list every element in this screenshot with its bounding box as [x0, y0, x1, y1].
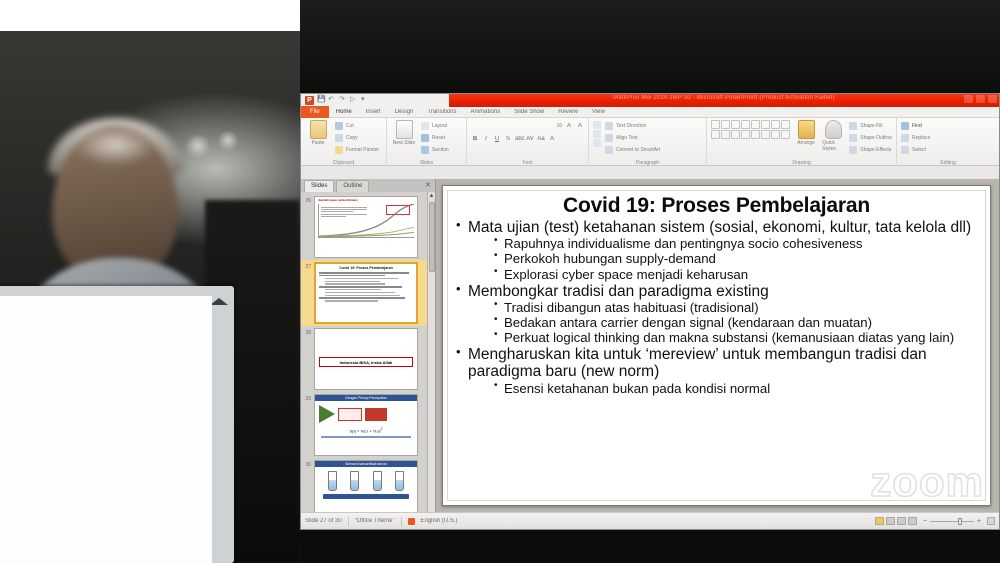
slide-thumbnail-30[interactable]: 30 Skenario lancar/tidak lancar: [301, 458, 435, 512]
slide-thumbnail-list[interactable]: 26 Jumlah kasus terkonfirmasi: [301, 192, 435, 512]
scrollbar-thumb[interactable]: [429, 202, 435, 272]
thumb-27-caption: Covid 19: Proses Pembelajaran: [316, 264, 416, 270]
slide-thumbnail-26[interactable]: 26 Jumlah kasus terkonfirmasi: [301, 194, 435, 260]
paste-button[interactable]: Paste: [305, 120, 331, 156]
fit-slide-to-window-icon[interactable]: [987, 517, 995, 525]
customize-qat-icon[interactable]: ▾: [361, 96, 369, 104]
slide-number-30: 30: [304, 460, 311, 468]
zoom-slider[interactable]: − +: [923, 518, 981, 525]
tab-design[interactable]: Design: [388, 106, 421, 118]
shape-hex-icon[interactable]: [741, 130, 750, 139]
thumb-canvas-26: Jumlah kasus terkonfirmasi: [314, 196, 418, 258]
shape-banner-icon[interactable]: [781, 130, 790, 139]
shared-screen-letterbox-bottom: [300, 530, 1000, 563]
bullet-level2-2-2[interactable]: Bedakan antara carrier dengan signal (ke…: [494, 315, 979, 330]
restore-button[interactable]: [976, 95, 985, 103]
find-label: Find: [912, 123, 922, 129]
layout-button[interactable]: Layout: [421, 120, 449, 132]
slide-content-placeholder[interactable]: Covid 19: Proses Pembelajaran Mata ujian…: [447, 190, 986, 501]
bullet-sublist-1: Rapuhnya individualisme dan pentingnya s…: [494, 236, 979, 281]
bullet-level2-3-1[interactable]: Esensi ketahanan bukan pada kondisi norm…: [494, 381, 979, 396]
theme-name[interactable]: “Office Theme”: [355, 518, 395, 524]
find-icon: [901, 122, 909, 130]
current-slide[interactable]: Covid 19: Proses Pembelajaran Mata ujian…: [442, 185, 991, 506]
character-spacing-button[interactable]: AV: [526, 136, 534, 142]
paste-label: Paste: [312, 140, 325, 146]
ribbon-group-editing: Find Replace Select Editing: [897, 118, 999, 166]
laptop-hinge-icon: [210, 298, 228, 305]
shape-effects-icon: [849, 146, 857, 154]
thumb-27-body: [316, 270, 416, 304]
ribbon-tab-strip[interactable]: File Home Insert Design Transitions Anim…: [301, 106, 999, 118]
shape-effects-label: Shape Effects: [860, 147, 891, 153]
thumb-30-footer-bar: [323, 494, 409, 499]
thumb-30-flask-1: [328, 471, 337, 491]
shape-outline-label: Shape Outline: [860, 135, 892, 141]
shape-fill-button[interactable]: Shape Fill: [849, 120, 892, 132]
thumb-29-arrow-icon: [319, 405, 335, 423]
quick-access-toolbar[interactable]: P 💾 ↶ ↷ ▷ ▾ MatkPlus Mei 2020 JMP 30 - M…: [301, 94, 999, 106]
pane-tab-slides[interactable]: Slides: [304, 180, 334, 192]
tab-animations[interactable]: Animations: [464, 106, 508, 118]
copy-icon: [335, 134, 343, 142]
shape-bracket-icon[interactable]: [771, 130, 780, 139]
ribbon-home[interactable]: Paste Cut Copy: [301, 118, 999, 166]
paste-icon: [310, 120, 327, 139]
shape-arc-icon[interactable]: [711, 130, 720, 139]
convert-smartart-button[interactable]: Convert to SmartArt: [605, 144, 660, 156]
group-label-editing: Editing: [897, 160, 999, 166]
laptop-screen: [0, 296, 212, 563]
layout-label: Layout: [432, 123, 447, 129]
normal-view-icon[interactable]: [875, 517, 884, 525]
shape-rounded-icon[interactable]: [741, 120, 750, 129]
tab-view[interactable]: View: [585, 106, 612, 118]
redo-icon[interactable]: ↷: [339, 96, 347, 104]
thumb-29-box-a: [338, 408, 362, 421]
thumb-canvas-27: Covid 19: Proses Pembelajaran: [314, 262, 418, 324]
shape-brace-icon[interactable]: [761, 130, 770, 139]
bullet-level2-1-2[interactable]: Perkokoh hubungan supply-demand: [494, 251, 979, 266]
ribbon-group-slides: New Slide Layout Reset: [387, 118, 467, 166]
slide-thumbnail-29[interactable]: 29 Dengan Prinsip Percepatan S(t) = %s.t…: [301, 392, 435, 458]
slides-pane-scrollbar[interactable]: ▲: [427, 192, 435, 512]
shape-effects-button[interactable]: Shape Effects: [849, 144, 892, 156]
pane-tab-outline[interactable]: Outline: [336, 180, 369, 192]
replace-label: Replace: [912, 135, 930, 141]
strikethrough-button[interactable]: abc: [515, 136, 523, 142]
zoom-meeting-screen: M Nuh P 💾 ↶ ↷ ▷ ▾ MatkPlus Mei 2020 JMP …: [0, 0, 1000, 563]
shape-star-icon[interactable]: [751, 130, 760, 139]
new-slide-icon: [396, 120, 413, 139]
shape-oval-icon[interactable]: [751, 120, 760, 129]
shape-arrow-icon[interactable]: [731, 120, 740, 129]
text-direction-button[interactable]: Text Direction: [605, 120, 660, 132]
shape-diamond-icon[interactable]: [731, 130, 740, 139]
decrease-font-icon[interactable]: A: [576, 123, 584, 129]
select-icon: [901, 146, 909, 154]
thumb-29-caption: Dengan Prinsip Percepatan: [315, 395, 417, 401]
text-direction-label: Text Direction: [616, 123, 646, 129]
tab-slide-show[interactable]: Slide Show: [507, 106, 551, 118]
tab-home[interactable]: Home: [329, 106, 359, 118]
thumb-26-caption: Jumlah kasus terkonfirmasi: [315, 197, 417, 203]
view-buttons[interactable]: [875, 517, 917, 525]
arrange-label: Arrange: [797, 140, 815, 146]
replace-icon: [901, 134, 909, 142]
bullet-level2-1-1[interactable]: Rapuhnya individualisme dan pentingnya s…: [494, 236, 979, 251]
slide-canvas-area[interactable]: Covid 19: Proses Pembelajaran Mata ujian…: [436, 179, 999, 512]
slide-number-27: 27: [304, 262, 311, 270]
cut-icon: [335, 122, 343, 130]
foreground-laptop: [0, 286, 234, 563]
group-label-paragraph: Paragraph: [589, 160, 706, 166]
smartart-icon: [605, 146, 613, 154]
thumb-30-flask-3: [373, 471, 382, 491]
bullet-level2-1-3[interactable]: Explorasi cyber space menjadi keharusan: [494, 267, 979, 282]
slide-thumbnail-27[interactable]: 27 Covid 19: Proses Pembelajaran: [301, 260, 435, 326]
pane-tab-strip[interactable]: Slides Outline ✕: [301, 179, 435, 192]
close-pane-icon[interactable]: ✕: [425, 182, 431, 190]
reset-label: Reset: [432, 135, 445, 141]
reading-view-icon[interactable]: [897, 517, 906, 525]
new-slide-button[interactable]: New Slide: [391, 120, 417, 156]
increase-font-icon[interactable]: A: [565, 123, 573, 129]
shape-pentagon-icon[interactable]: [721, 130, 730, 139]
section-icon: [421, 146, 429, 154]
close-button[interactable]: [988, 95, 997, 103]
ribbon-group-paragraph: Text Direction Align Text Convert to Sma…: [589, 118, 707, 166]
arrange-icon: [798, 120, 815, 139]
scroll-up-icon[interactable]: ▲: [428, 192, 435, 201]
group-label-slides: Slides: [387, 160, 466, 166]
section-button[interactable]: Section: [421, 144, 449, 156]
language-indicator[interactable]: English (U.S.): [421, 518, 458, 524]
spellcheck-icon[interactable]: [408, 518, 415, 525]
ribbon-group-clipboard: Paste Cut Copy: [301, 118, 387, 166]
format-painter-button[interactable]: Format Painter: [335, 144, 379, 156]
window-title: MatkPlus Mei 2020 JMP 30 - Microsoft Pow…: [613, 95, 835, 101]
status-divider-1: [348, 517, 349, 526]
shape-gallery[interactable]: [711, 120, 790, 139]
quick-styles-button[interactable]: Quick Styles: [822, 120, 844, 152]
arrange-button[interactable]: Arrange: [795, 120, 817, 146]
editor-work-area: Slides Outline ✕ 26 Jumlah kasus terkonf…: [301, 179, 999, 512]
video-top-whitespace: [0, 0, 300, 31]
tab-insert[interactable]: Insert: [359, 106, 388, 118]
slide-number-29: 29: [304, 394, 311, 402]
shape-triangle-icon[interactable]: [771, 120, 780, 129]
cut-button[interactable]: Cut: [335, 120, 379, 132]
copy-label: Copy: [346, 135, 358, 141]
bullet-level1-3-text: Mengharuskan kita untuk ‘mereview’ untuk…: [468, 346, 927, 380]
bullet-level1-1[interactable]: Mata ujian (test) ketahanan sistem (sosi…: [454, 219, 979, 282]
tab-transitions[interactable]: Transitions: [420, 106, 463, 118]
bullet-level1-2[interactable]: Membongkar tradisi dan paradigma existin…: [454, 283, 979, 346]
new-slide-label: New Slide: [393, 140, 416, 146]
slide-number-26: 26: [304, 196, 311, 204]
reset-icon: [421, 134, 429, 142]
window-controls[interactable]: [964, 95, 997, 103]
present-icon[interactable]: ▷: [350, 96, 358, 104]
shape-curve-icon[interactable]: [781, 120, 790, 129]
minimize-button[interactable]: [964, 95, 973, 103]
bullet-sublist-2: Tradisi dibangun atas habituasi (tradisi…: [494, 300, 979, 345]
bold-button[interactable]: B: [471, 136, 479, 142]
layout-icon: [421, 122, 429, 130]
thumb-30-flask-4: [395, 471, 404, 491]
font-color-button[interactable]: A: [548, 136, 556, 142]
shape-outline-button[interactable]: Shape Outline: [849, 132, 892, 144]
align-text-label: Align Text: [616, 135, 638, 141]
shape-fill-icon: [849, 122, 857, 130]
replace-button[interactable]: Replace: [901, 132, 995, 144]
group-label-drawing: Drawing: [707, 160, 896, 166]
bullet-level1-3[interactable]: Mengharuskan kita untuk ‘mereview’ untuk…: [454, 346, 979, 396]
slide-sorter-view-icon[interactable]: [886, 517, 895, 525]
format-painter-label: Format Painter: [346, 147, 379, 153]
slide-bullet-list: Mata ujian (test) ketahanan sistem (sosi…: [454, 219, 979, 396]
line-spacing-icon[interactable]: [593, 139, 601, 147]
format-painter-icon: [335, 146, 343, 154]
shape-box-icon[interactable]: [761, 120, 770, 129]
slide-title[interactable]: Covid 19: Proses Pembelajaran: [454, 195, 979, 217]
slide-counter: Slide 27 of 30: [305, 518, 342, 524]
cut-label: Cut: [346, 123, 354, 129]
shape-line-icon[interactable]: [721, 120, 730, 129]
shape-fill-label: Shape Fill: [860, 123, 882, 129]
undo-icon[interactable]: ↶: [328, 96, 336, 104]
slide-thumbnail-28[interactable]: 28 Indonesia BISA, Insha Allah: [301, 326, 435, 392]
thumb-28-caption: Indonesia BISA, Insha Allah: [319, 357, 413, 367]
status-bar[interactable]: Slide 27 of 30 “Office Theme” English (U…: [301, 512, 999, 529]
copy-button[interactable]: Copy: [335, 132, 379, 144]
align-text-button[interactable]: Align Text: [605, 132, 660, 144]
thumb-canvas-28: Indonesia BISA, Insha Allah: [314, 328, 418, 390]
select-button[interactable]: Select: [901, 144, 995, 156]
zoom-knob[interactable]: [958, 518, 962, 525]
tab-review[interactable]: Review: [551, 106, 585, 118]
find-button[interactable]: Find: [901, 120, 995, 132]
bullet-level1-2-text: Membongkar tradisi dan paradigma existin…: [468, 283, 769, 300]
group-label-clipboard: Clipboard: [301, 160, 386, 166]
shared-screen-letterbox-top: [300, 0, 1000, 93]
font-size-value[interactable]: 16: [556, 123, 562, 129]
thumb-30-caption: Skenario lancar/tidak lancar: [315, 461, 417, 467]
speaker-video-tile[interactable]: [0, 0, 300, 563]
bullets-icon[interactable]: [593, 121, 601, 129]
save-icon[interactable]: 💾: [317, 96, 325, 104]
zoom-track[interactable]: [930, 521, 974, 522]
underline-button[interactable]: U: [493, 136, 501, 142]
ribbon-group-drawing: Arrange Quick Styles Shape Fill: [707, 118, 897, 166]
powerpoint-logo-icon: P: [305, 96, 314, 105]
thumb-30-flask-2: [350, 471, 359, 491]
section-label: Section: [432, 147, 449, 153]
thumb-29-box-b: [365, 408, 387, 421]
bullet-level1-1-text: Mata ujian (test) ketahanan sistem (sosi…: [468, 219, 971, 236]
smartart-label: Convert to SmartArt: [616, 147, 660, 153]
slide-show-view-icon[interactable]: [908, 517, 917, 525]
bullet-sublist-3: Esensi ketahanan bukan pada kondisi norm…: [494, 381, 979, 396]
numbering-icon[interactable]: [593, 130, 601, 138]
quick-styles-icon: [825, 120, 842, 139]
align-text-icon: [605, 134, 613, 142]
shape-outline-icon: [849, 134, 857, 142]
status-divider-2: [401, 517, 402, 526]
shape-rect-icon[interactable]: [711, 120, 720, 129]
shadow-button[interactable]: S: [504, 136, 512, 142]
text-direction-icon: [605, 122, 613, 130]
powerpoint-window: P 💾 ↶ ↷ ▷ ▾ MatkPlus Mei 2020 JMP 30 - M…: [300, 93, 1000, 530]
thumb-canvas-29: Dengan Prinsip Percepatan S(t) = %s.t + …: [314, 394, 418, 456]
bullet-level2-2-3[interactable]: Perkuat logical thinking dan makna subst…: [494, 330, 979, 345]
change-case-button[interactable]: Aa: [537, 136, 545, 142]
shared-screen-region: M Nuh P 💾 ↶ ↷ ▷ ▾ MatkPlus Mei 2020 JMP …: [300, 0, 1000, 563]
zoom-out-icon[interactable]: −: [923, 518, 927, 525]
quick-styles-label: Quick Styles: [822, 140, 844, 152]
reset-button[interactable]: Reset: [421, 132, 449, 144]
slide-number-28: 28: [304, 328, 311, 336]
ribbon-group-font: 16 A A B I U S abc AV Aa A Font: [467, 118, 589, 166]
thumb-canvas-30: Skenario lancar/tidak lancar: [314, 460, 418, 512]
group-label-font: Font: [467, 160, 588, 166]
tab-file[interactable]: File: [301, 106, 329, 118]
italic-button[interactable]: I: [482, 136, 490, 142]
zoom-in-icon[interactable]: +: [977, 518, 981, 525]
bullet-level2-2-1[interactable]: Tradisi dibangun atas habituasi (tradisi…: [494, 300, 979, 315]
thumb-26-chart: [318, 204, 414, 238]
select-label: Select: [912, 147, 926, 153]
slides-pane: Slides Outline ✕ 26 Jumlah kasus terkonf…: [301, 179, 436, 512]
